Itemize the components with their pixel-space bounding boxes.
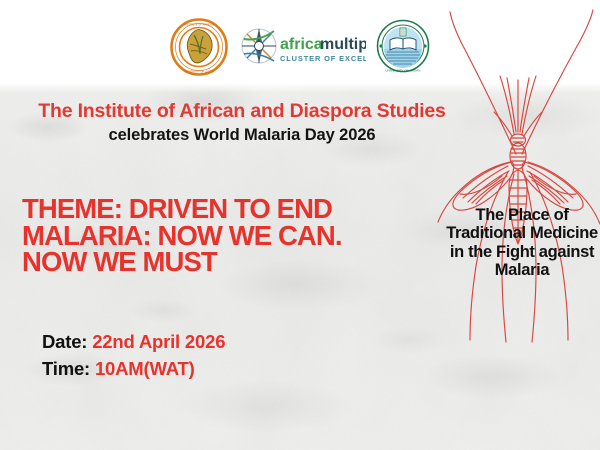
date-label: Date: — [42, 331, 87, 352]
svg-text:CLUSTER OF EXCELLENCE: CLUSTER OF EXCELLENCE — [280, 54, 366, 63]
time-label: Time: — [42, 358, 90, 379]
event-details: Date: 22nd April 2026 Time: 10AM(WAT) — [42, 328, 225, 382]
theme-block: THEME: DRIVEN TO END MALARIA: NOW WE CAN… — [22, 196, 442, 276]
headline-line-2: celebrates World Malaria Day 2026 — [0, 123, 600, 148]
theme-line-1: THEME: DRIVEN TO END — [22, 196, 442, 223]
headline-block: The Institute of African and Diaspora St… — [0, 99, 600, 148]
time-row: Time: 10AM(WAT) — [42, 355, 225, 382]
theme-line-3: NOW WE MUST — [22, 249, 442, 276]
time-value: 10AM(WAT) — [95, 358, 195, 379]
subtitle-text: The Place of Traditional Medicine in the… — [446, 206, 598, 280]
svg-text:UNIVERSITY OF LAGOS: UNIVERSITY OF LAGOS — [184, 69, 214, 73]
svg-text:africa: africa — [280, 36, 323, 53]
africa-multiple-cluster-of-excellence-logo-icon: africa multiple CLUSTER OF EXCELLENCE — [238, 24, 366, 70]
theme-line-2: MALARIA: NOW WE CAN. — [22, 223, 442, 250]
university-of-ibadan-seal-icon: UNIVERSITY OF IBADAN — [376, 19, 430, 75]
svg-text:UNIVERSITY OF IBADAN: UNIVERSITY OF IBADAN — [386, 69, 421, 73]
date-value: 22nd April 2026 — [92, 331, 225, 352]
logo-row: INSTITUTE OF AFRICAN UNIVERSITY OF LAGOS… — [0, 16, 600, 78]
svg-text:INSTITUTE OF AFRICAN: INSTITUTE OF AFRICAN — [184, 23, 214, 27]
malaria-day-poster: INSTITUTE OF AFRICAN UNIVERSITY OF LAGOS… — [0, 0, 600, 450]
headline-line-1: The Institute of African and Diaspora St… — [0, 99, 600, 123]
date-row: Date: 22nd April 2026 — [42, 328, 225, 355]
svg-text:multiple: multiple — [320, 36, 366, 53]
texture-top-fade — [0, 83, 600, 93]
institute-of-african-and-diaspora-studies-seal-icon: INSTITUTE OF AFRICAN UNIVERSITY OF LAGOS — [170, 18, 228, 76]
